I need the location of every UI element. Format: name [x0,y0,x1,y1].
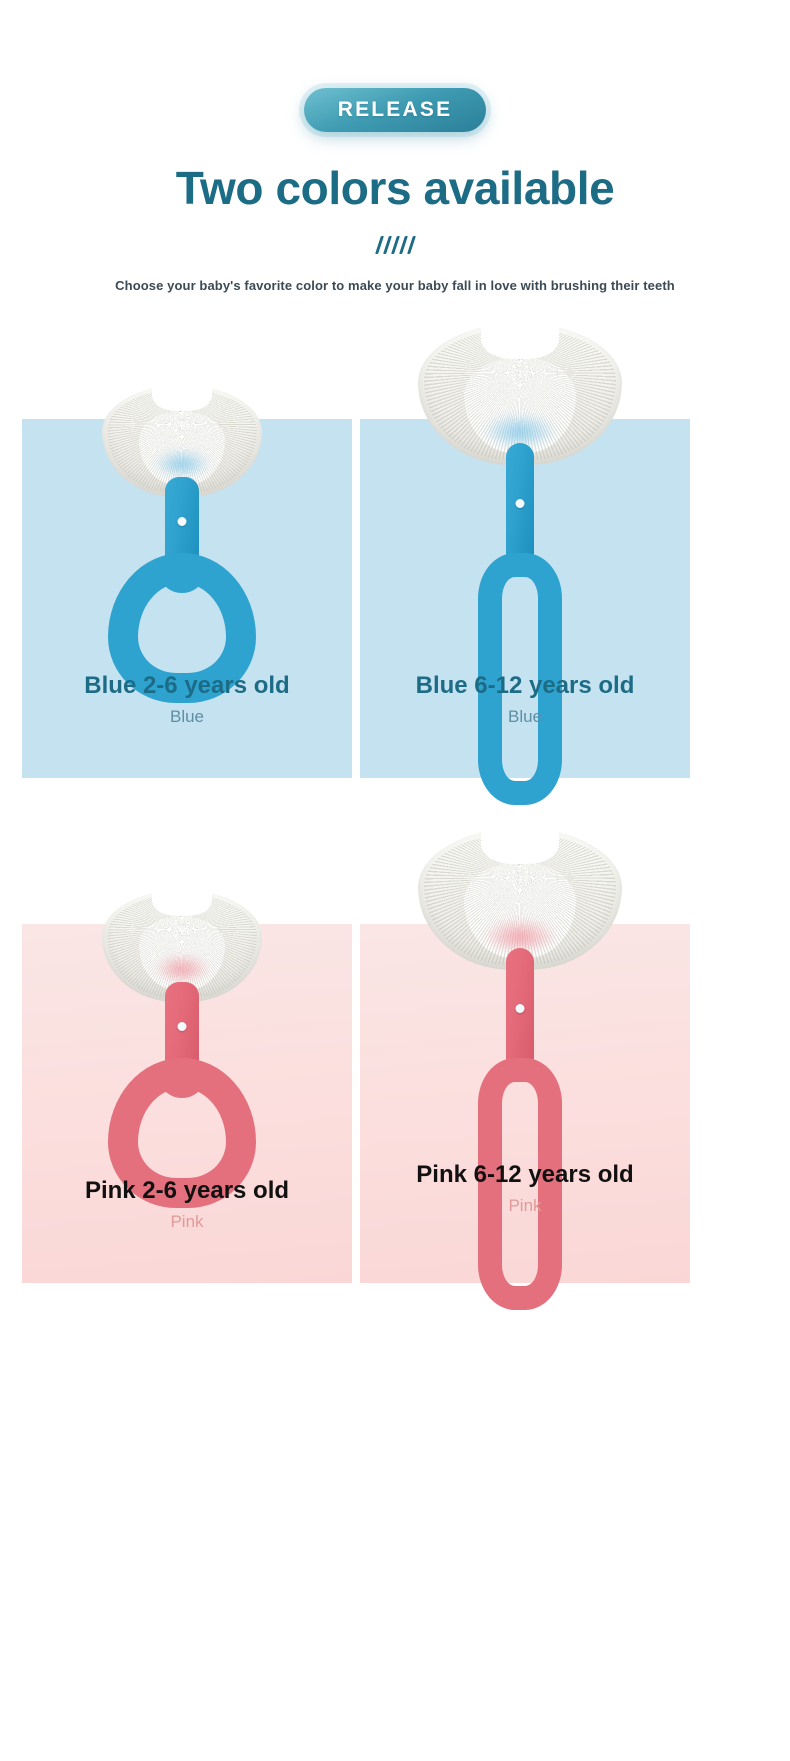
product-card-pink-6-12[interactable]: Pink 6-12 years old Pink [360,876,690,1283]
card-caption: Blue 2-6 years old Blue [22,671,352,727]
release-badge: RELEASE [304,88,487,132]
product-grid: Blue 2-6 years old Blue [0,371,790,1331]
product-row-blue: Blue 2-6 years old Blue [0,371,790,826]
product-row-pink: Pink 2-6 years old Pink [0,876,790,1331]
toothbrush-image-blue-2-6 [22,371,352,711]
page-header: RELEASE Two colors available Choose your… [0,0,790,293]
product-color-label: Pink [360,1196,690,1216]
product-title: Pink 2-6 years old [22,1176,352,1206]
product-title: Blue 6-12 years old [360,671,690,701]
toothbrush-image-blue-6-12 [360,309,690,709]
product-card-blue-2-6[interactable]: Blue 2-6 years old Blue [22,371,352,778]
page-subtitle: Choose your baby's favorite color to mak… [0,278,790,293]
product-color-label: Blue [22,707,352,727]
toothbrush-image-pink-6-12 [360,814,690,1214]
product-detail-page: RELEASE Two colors available Choose your… [0,0,790,1761]
card-caption: Pink 6-12 years old Pink [360,1160,690,1216]
product-title: Blue 2-6 years old [22,671,352,701]
product-color-label: Blue [360,707,690,727]
slash-marks-icon [0,236,790,256]
product-title: Pink 6-12 years old [360,1160,690,1190]
product-card-blue-6-12[interactable]: Blue 6-12 years old Blue [360,371,690,778]
card-caption: Blue 6-12 years old Blue [360,671,690,727]
card-caption: Pink 2-6 years old Pink [22,1176,352,1232]
product-card-pink-2-6[interactable]: Pink 2-6 years old Pink [22,876,352,1283]
toothbrush-image-pink-2-6 [22,876,352,1216]
product-color-label: Pink [22,1212,352,1232]
page-title: Two colors available [0,164,790,214]
